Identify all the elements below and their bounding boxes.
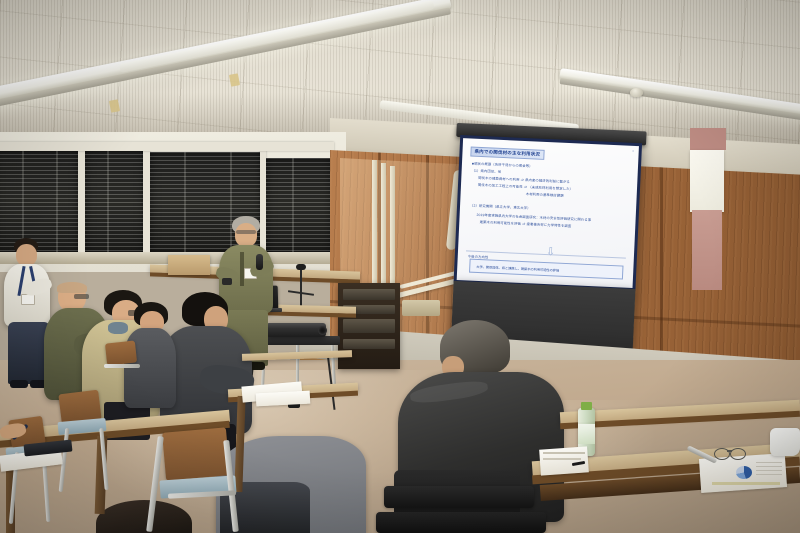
window-blinds-2 (85, 150, 145, 254)
shoe (10, 380, 28, 388)
handout-table (756, 462, 782, 478)
wall-vent (690, 128, 726, 150)
attendee-7-head (96, 500, 192, 533)
blind-slats (85, 150, 145, 254)
meeting-room-photo: 3 県内での間伐材の主な利用状況 ■現状の概要（各所千局からの照会等） （1）県… (0, 0, 800, 533)
slide-line: （1）県内団体、他 (472, 168, 502, 174)
microphone-stand (300, 268, 302, 306)
wristwatch (222, 278, 232, 285)
presentation-slide: 3 県内での間伐材の主な利用状況 ■現状の概要（各所千局からの照会等） （1）県… (457, 138, 639, 288)
notebook-line (543, 458, 581, 460)
foreground-chair-back[interactable] (384, 486, 534, 508)
face-mask[interactable] (770, 428, 800, 456)
slide-line: （2）研究機関（県立大学、東北大学） (470, 203, 531, 211)
down-arrow-icon: ⇩ (546, 247, 556, 258)
window-head-rail (0, 142, 334, 151)
wall-column (692, 210, 722, 290)
foreground-chair-back[interactable] (376, 512, 546, 533)
eyeglasses-icon (236, 230, 256, 234)
handheld-microphone[interactable] (256, 254, 263, 270)
slide-title: 県内での間伐材の主な利用状況 (470, 147, 544, 160)
projector-lens-icon (318, 326, 327, 335)
bottle-cap[interactable] (581, 402, 592, 410)
notebook-line (543, 452, 585, 454)
handout-pie-chart (736, 466, 752, 479)
wall-panel-white (690, 150, 724, 212)
bottle-label (578, 424, 595, 444)
window-mullion (143, 146, 150, 258)
av-unit (402, 300, 440, 316)
eyeglasses-bridge (727, 450, 732, 452)
chair-cross-bar (104, 364, 140, 368)
cardboard-box (168, 255, 210, 275)
slide-conclusion-text: 大学、関係団体、県と連携し、建築木の利用可能性の評価 (476, 263, 559, 272)
slide-page-number: 3 (632, 149, 634, 153)
folding-chair-back[interactable] (162, 427, 230, 480)
window-mullion (78, 146, 85, 258)
microphone-head-icon (296, 264, 306, 270)
person-attendee-7 (96, 500, 192, 533)
handout-highlight (712, 482, 780, 485)
sprinkler-icon (630, 88, 643, 97)
folding-chair-back[interactable] (105, 340, 137, 365)
eyeglasses-lens-right (730, 448, 746, 460)
projected-image-area: 3 県内での間伐材の主な利用状況 ■現状の概要（各所千局からの照会等） （1）県… (454, 135, 643, 291)
slide-conclusion-box: 大学、関係団体、県と連携し、建築木の利用可能性の評価 (469, 259, 623, 280)
